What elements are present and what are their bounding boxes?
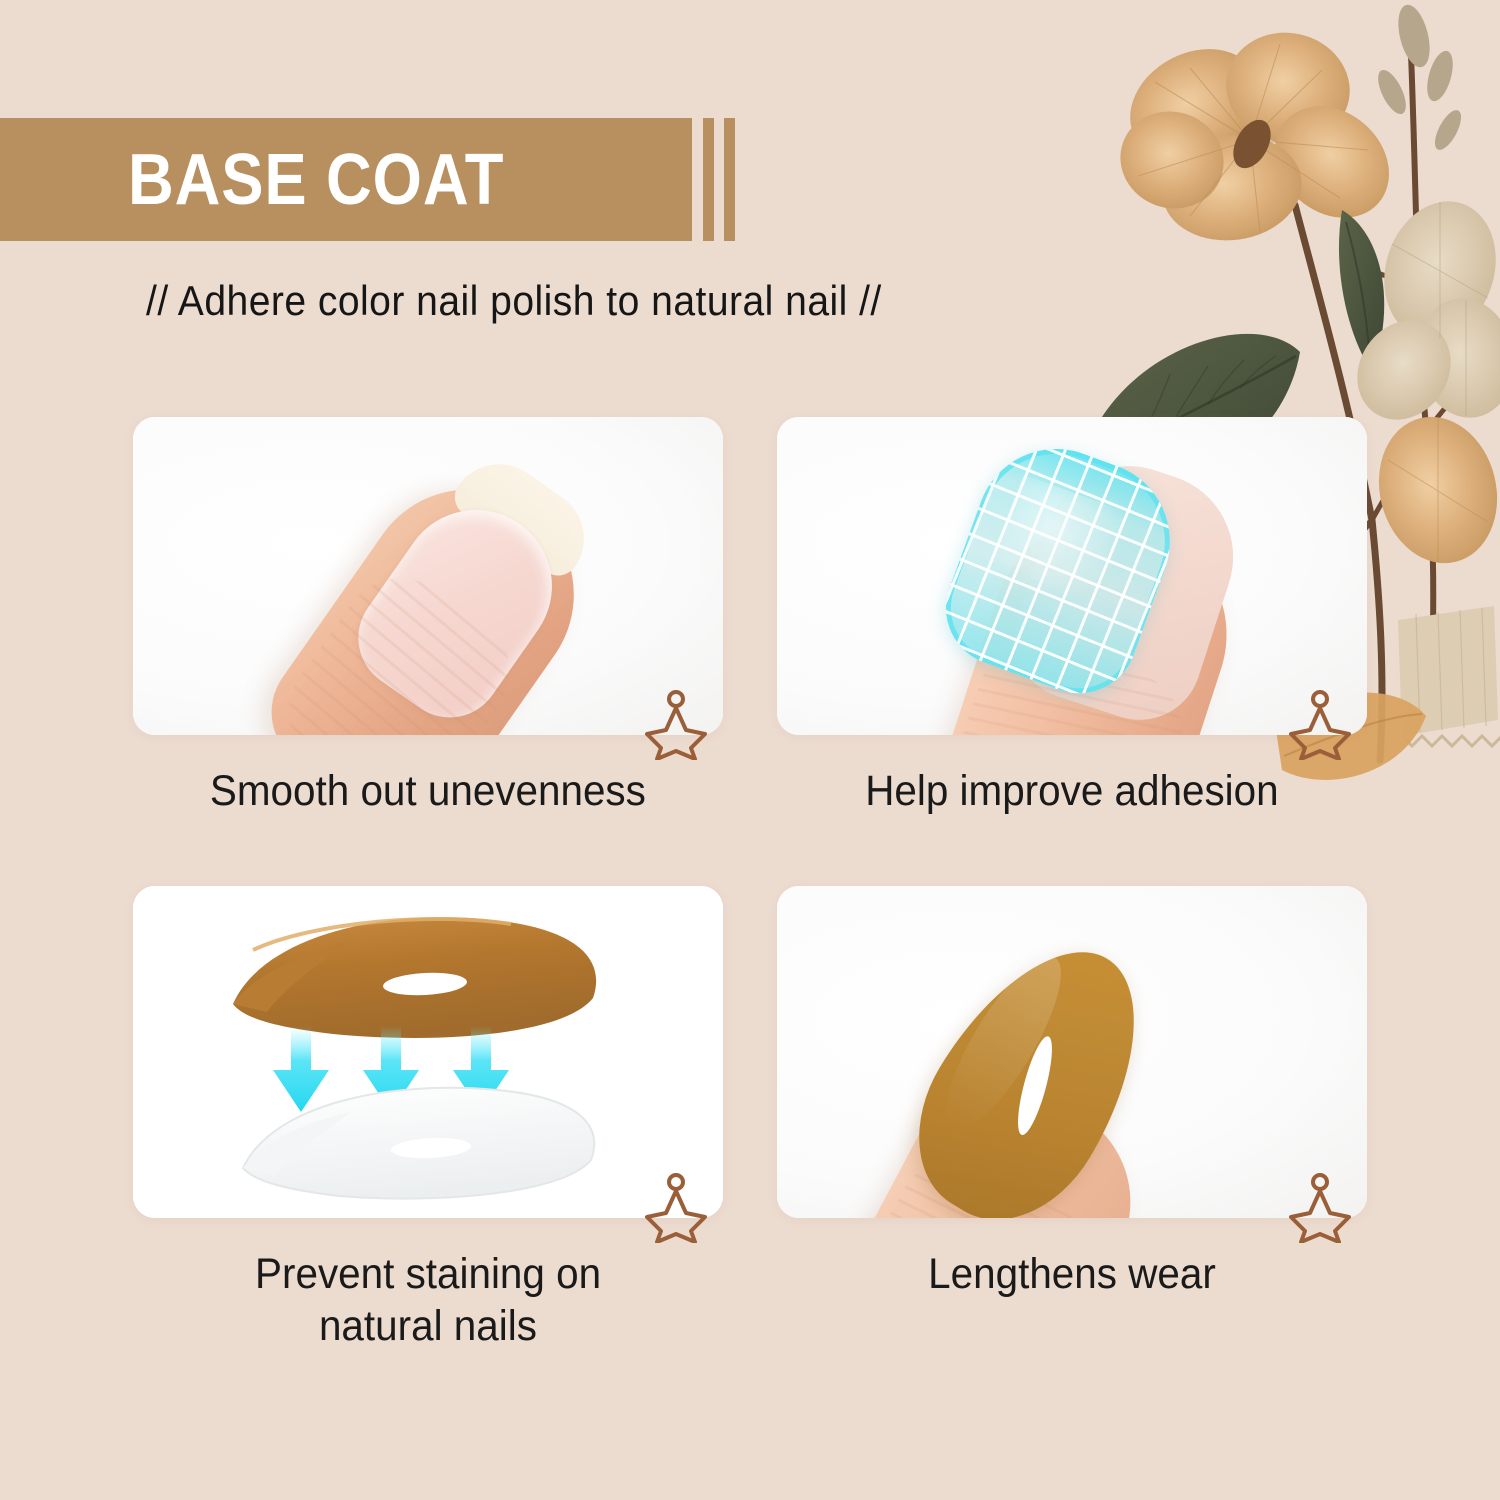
caption-text: Help improve adhesion: [865, 765, 1278, 817]
illustration-polish-over-nail: [133, 886, 723, 1218]
card-caption-lengthens-wear: Lengthens wear: [777, 1248, 1367, 1300]
infographic-page: BASE COAT // Adhere color nail polish to…: [0, 0, 1500, 1500]
card-caption-smooth-out-unevenness: Smooth out unevenness: [133, 765, 723, 817]
benefit-card-lengthens-wear: [777, 886, 1367, 1218]
card-image-frame: [777, 417, 1367, 735]
benefit-card-smooth-out-unevenness: [133, 417, 723, 735]
benefit-card-prevent-staining: [133, 886, 723, 1218]
caption-text-line-2: natural nails: [319, 1300, 537, 1352]
illustration-svg: [133, 886, 723, 1218]
card-caption-prevent-staining: Prevent staining on natural nails: [133, 1248, 723, 1353]
caption-text: Lengthens wear: [928, 1248, 1216, 1300]
photo-nail-grid-overlay: [777, 417, 1367, 735]
caption-text: Smooth out unevenness: [210, 765, 646, 817]
card-image-frame: [133, 417, 723, 735]
card-caption-help-improve-adhesion: Help improve adhesion: [777, 765, 1367, 817]
caption-text-line-1: Prevent staining on: [255, 1248, 601, 1300]
card-image-frame: [777, 886, 1367, 1218]
photo-natural-nail: [133, 417, 723, 735]
benefit-card-help-improve-adhesion: [777, 417, 1367, 735]
photo-brown-almond-nail: [777, 886, 1367, 1218]
card-image-frame: [133, 886, 723, 1218]
